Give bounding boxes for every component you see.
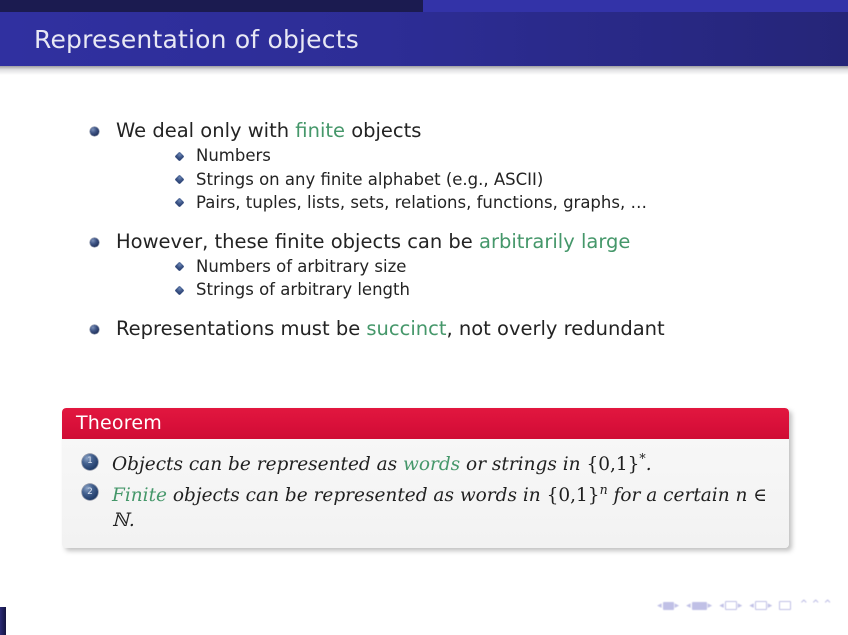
subitem-label: Numbers of arbitrary size bbox=[196, 257, 406, 276]
numbered-ball-icon-2: 2 bbox=[82, 484, 98, 500]
nav-section-group[interactable]: ◂ ▸ bbox=[749, 601, 772, 611]
nav-next-arrow-icon[interactable]: ▸ bbox=[768, 601, 773, 611]
ball-bullet-icon bbox=[90, 325, 99, 334]
theorem-highlight-words: words bbox=[403, 454, 460, 475]
nav-subsection-group[interactable]: ◂ ▸ bbox=[719, 601, 742, 611]
theorem-item-list: 1Objects can be represented as words or … bbox=[78, 451, 773, 534]
diamond-bullet-icon bbox=[175, 175, 185, 185]
group-spacer bbox=[88, 304, 848, 316]
diamond-bullet-icon bbox=[175, 198, 185, 208]
theorem-highlight-finite: Finite bbox=[112, 485, 167, 506]
bullet-item-succinct: Representations must be succinct, not ov… bbox=[88, 316, 848, 342]
theorem-text-pre: Objects can be represented as bbox=[112, 454, 403, 475]
ball-bullet-icon bbox=[90, 127, 99, 136]
nav-next-arrow-icon[interactable]: ▸ bbox=[738, 601, 743, 611]
theorem-block: Theorem 1Objects can be represented as w… bbox=[62, 408, 789, 548]
bullet-highlight-succinct: succinct bbox=[366, 317, 446, 340]
theorem-math-exponent: n bbox=[600, 482, 608, 497]
diamond-bullet-icon bbox=[175, 285, 185, 295]
theorem-header-bar: Theorem bbox=[62, 408, 789, 439]
nav-prev-arrow-icon[interactable]: ◂ bbox=[719, 601, 724, 611]
nav-prev-arrow-icon[interactable]: ◂ bbox=[749, 601, 754, 611]
bullet-text-pre: Representations must be bbox=[116, 317, 366, 340]
theorem-math-set: {0,1} bbox=[586, 454, 639, 475]
title-bar-shadow bbox=[0, 66, 848, 75]
theorem-math-set: {0,1} bbox=[547, 485, 600, 506]
nav-back-dots-icon[interactable]: ⌃⌃⌃ bbox=[798, 598, 834, 613]
top-strip-right-blue bbox=[423, 0, 848, 12]
main-bullet-list: We deal only with finite objects Numbers… bbox=[88, 118, 848, 342]
nav-section-frame-icon[interactable] bbox=[755, 601, 767, 610]
bullet-highlight-finite: finite bbox=[295, 119, 345, 142]
slide-content: We deal only with finite objects Numbers… bbox=[0, 118, 848, 344]
subitem-label: Strings of arbitrary length bbox=[196, 280, 410, 299]
group-spacer bbox=[88, 217, 848, 229]
bullet-item-finite-objects: We deal only with finite objects Numbers… bbox=[88, 118, 848, 215]
numbered-ball-icon-1: 1 bbox=[82, 454, 98, 470]
top-decoration-strip bbox=[0, 0, 848, 12]
beamer-navigation-symbols[interactable]: ◂ ▸ ◂ ▸ ◂ ▸ ◂ ▸ ⌃⌃⌃ bbox=[657, 598, 834, 613]
subitem-label: Pairs, tuples, lists, sets, relations, f… bbox=[196, 193, 647, 212]
bullet-text-post: objects bbox=[345, 119, 421, 142]
nav-frame-group[interactable]: ◂ ▸ bbox=[686, 601, 712, 611]
theorem-text-mid: or strings in bbox=[460, 454, 586, 475]
slide-title: Representation of objects bbox=[0, 25, 359, 54]
theorem-item-1: 1Objects can be represented as words or … bbox=[78, 451, 773, 478]
nav-subsection-frame-icon[interactable] bbox=[725, 601, 737, 610]
sublist-arbitrarily-large: Numbers of arbitrary size Strings of arb… bbox=[172, 255, 848, 302]
diamond-bullet-icon bbox=[175, 151, 185, 161]
bullet-text-pre: However, these finite objects can be bbox=[116, 230, 479, 253]
theorem-item-2: 2Finite objects can be represented as wo… bbox=[78, 482, 773, 534]
theorem-box: Theorem 1Objects can be represented as w… bbox=[62, 408, 789, 548]
subitem-numbers: Numbers bbox=[172, 144, 848, 167]
subitem-strings-arbitrary-length: Strings of arbitrary length bbox=[172, 278, 848, 301]
nav-frame-box-icon[interactable] bbox=[692, 602, 707, 610]
nav-slide-box-icon[interactable] bbox=[663, 602, 674, 610]
nav-prev-arrow-icon[interactable]: ◂ bbox=[686, 601, 691, 611]
slide-title-bar: Representation of objects bbox=[0, 12, 848, 66]
slide-root: { "slide": { "title": "Representation of… bbox=[0, 0, 848, 635]
nav-next-arrow-icon[interactable]: ▸ bbox=[708, 601, 713, 611]
theorem-title: Theorem bbox=[76, 412, 162, 434]
sublist-finite-objects: Numbers Strings on any finite alphabet (… bbox=[172, 144, 848, 214]
nav-next-arrow-icon[interactable]: ▸ bbox=[675, 601, 680, 611]
subitem-numbers-arbitrary-size: Numbers of arbitrary size bbox=[172, 255, 848, 278]
theorem-text-mid: objects can be represented as words in bbox=[167, 485, 547, 506]
nav-slide-group[interactable]: ◂ ▸ bbox=[657, 601, 679, 611]
diamond-bullet-icon bbox=[175, 262, 185, 272]
top-strip-left-dark bbox=[0, 0, 423, 12]
subitem-label: Strings on any finite alphabet (e.g., AS… bbox=[196, 170, 543, 189]
subitem-label: Numbers bbox=[196, 146, 271, 165]
bullet-text-post: , not overly redundant bbox=[447, 317, 665, 340]
bottom-left-accent-strip bbox=[0, 607, 6, 635]
ball-bullet-icon bbox=[90, 238, 99, 247]
nav-prev-arrow-icon[interactable]: ◂ bbox=[657, 601, 662, 611]
bullet-text-pre: We deal only with bbox=[116, 119, 295, 142]
bullet-item-arbitrarily-large: However, these finite objects can be arb… bbox=[88, 229, 848, 302]
nav-presentation-frame-icon[interactable] bbox=[779, 601, 791, 610]
theorem-body: 1Objects can be represented as words or … bbox=[62, 439, 789, 548]
subitem-strings-alphabet: Strings on any finite alphabet (e.g., AS… bbox=[172, 168, 848, 191]
bullet-highlight-arbitrarily-large: arbitrarily large bbox=[479, 230, 630, 253]
subitem-pairs-tuples: Pairs, tuples, lists, sets, relations, f… bbox=[172, 191, 848, 214]
theorem-text-post: . bbox=[646, 454, 652, 475]
